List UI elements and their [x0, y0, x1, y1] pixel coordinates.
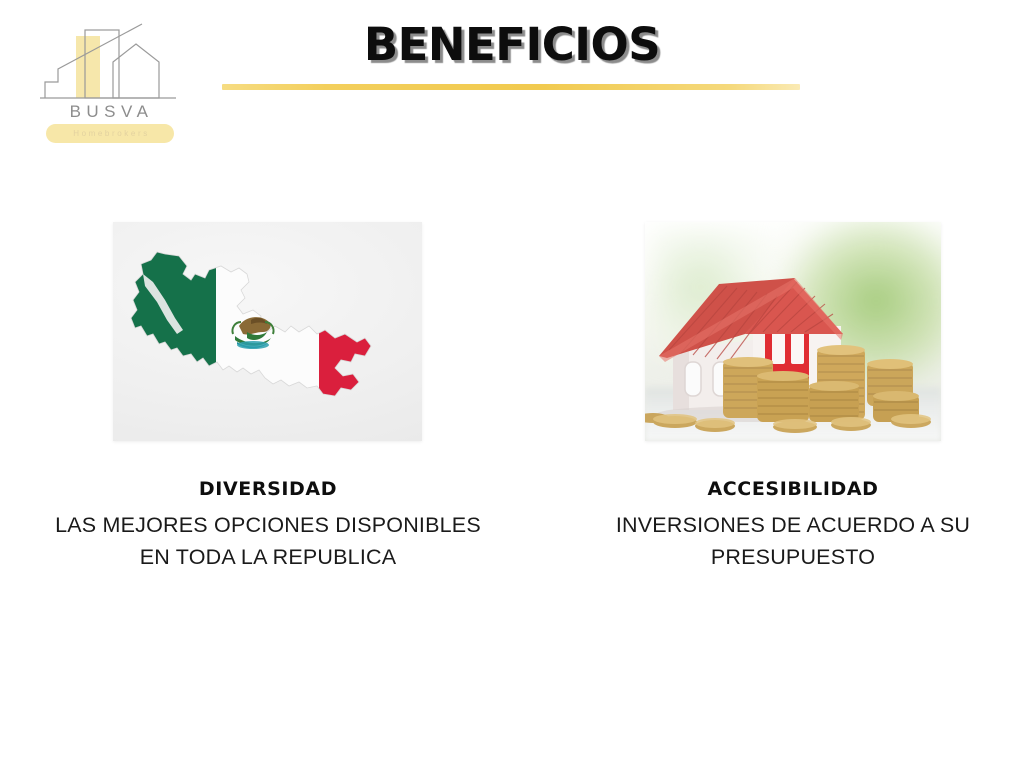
- benefit-body: INVERSIONES DE ACUERDO A SU PRESUPUESTO: [546, 509, 1024, 573]
- house-and-coins-image: [645, 222, 941, 441]
- mexico-flag-map-image: [113, 222, 422, 441]
- logo-tagline: Homebrokers: [46, 124, 174, 143]
- benefit-body-line: EN TODA LA REPUBLICA: [18, 541, 518, 573]
- benefit-heading: DIVERSIDAD: [18, 476, 518, 502]
- title-underline-rule: [222, 84, 800, 90]
- logo-wordmark: BUSVA: [38, 102, 180, 122]
- page-title: BENEFICIOS: [0, 18, 1024, 71]
- logo-tagline-band: Homebrokers: [46, 124, 174, 143]
- benefit-body-line: PRESUPUESTO: [546, 541, 1024, 573]
- slide-canvas: BUSVA Homebrokers BENEFICIOS: [0, 0, 1024, 768]
- benefit-caption-accesibilidad: ACCESIBILIDAD INVERSIONES DE ACUERDO A S…: [546, 476, 1024, 573]
- benefit-body-line: INVERSIONES DE ACUERDO A SU: [546, 509, 1024, 541]
- benefit-body-line: LAS MEJORES OPCIONES DISPONIBLES: [18, 509, 518, 541]
- benefit-caption-diversidad: DIVERSIDAD LAS MEJORES OPCIONES DISPONIB…: [18, 476, 518, 573]
- benefit-heading: ACCESIBILIDAD: [546, 476, 1024, 502]
- benefit-body: LAS MEJORES OPCIONES DISPONIBLES EN TODA…: [18, 509, 518, 573]
